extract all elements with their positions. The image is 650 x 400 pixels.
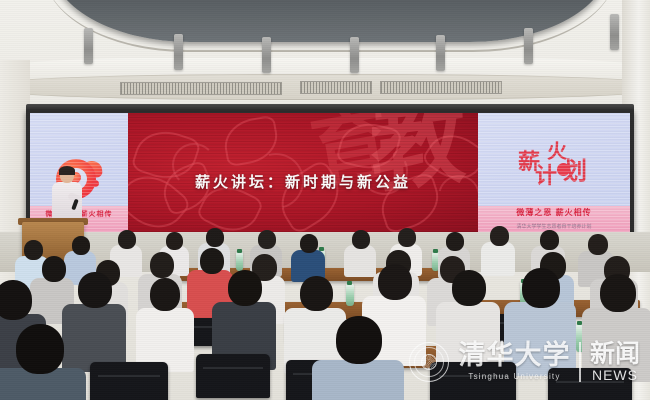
chair bbox=[196, 354, 270, 398]
ceiling-speaker-icon bbox=[84, 28, 93, 64]
calligraphy-char-secondary: 育 bbox=[306, 113, 396, 193]
red-floral-pattern bbox=[128, 113, 478, 232]
lecture-title: 薪火讲坛：新时期与新公益 bbox=[128, 171, 478, 192]
seal-char-4: 划 bbox=[563, 159, 587, 183]
calligraphy-char-primary: 教 bbox=[369, 113, 468, 199]
ceiling-speaker-icon bbox=[262, 37, 271, 73]
vent-grill-icon bbox=[380, 81, 502, 94]
right-screen-band-text: 微薄之恩 薪火相传 bbox=[478, 207, 630, 218]
audience-area bbox=[0, 250, 650, 400]
chair bbox=[90, 362, 168, 400]
chair bbox=[430, 362, 516, 400]
ceiling-speaker-icon bbox=[610, 14, 619, 50]
seal-dot-icon bbox=[557, 163, 570, 176]
water-bottle bbox=[236, 252, 243, 271]
right-projection-screen: 薪 火 计 划 微薄之恩 薪火相传 清华大学学生志愿者骨干培养计划 bbox=[478, 113, 630, 232]
xinhuo-plan-seal-icon: 薪 火 计 划 bbox=[517, 137, 591, 197]
ceiling-speaker-icon bbox=[436, 35, 445, 71]
ceiling-vent-band bbox=[0, 74, 650, 100]
water-bottle bbox=[346, 284, 354, 306]
chair bbox=[548, 368, 632, 400]
ceiling-speaker-icon bbox=[524, 28, 533, 64]
ceiling-speaker-icon bbox=[174, 34, 183, 70]
vent-grill-icon bbox=[120, 82, 282, 95]
seal-char-2: 火 bbox=[547, 141, 567, 161]
seal-char-3: 计 bbox=[535, 165, 557, 187]
photo-scene: 微薄之恩 薪火相传 育 教 薪火讲坛：新时期与新公益 薪 火 计 划 bbox=[0, 0, 650, 400]
ceiling-speaker-icon bbox=[350, 37, 359, 73]
seal-char-1: 薪 bbox=[518, 151, 538, 173]
vent-grill-icon bbox=[300, 81, 372, 94]
center-projection-screen: 育 教 薪火讲坛：新时期与新公益 bbox=[128, 113, 478, 232]
